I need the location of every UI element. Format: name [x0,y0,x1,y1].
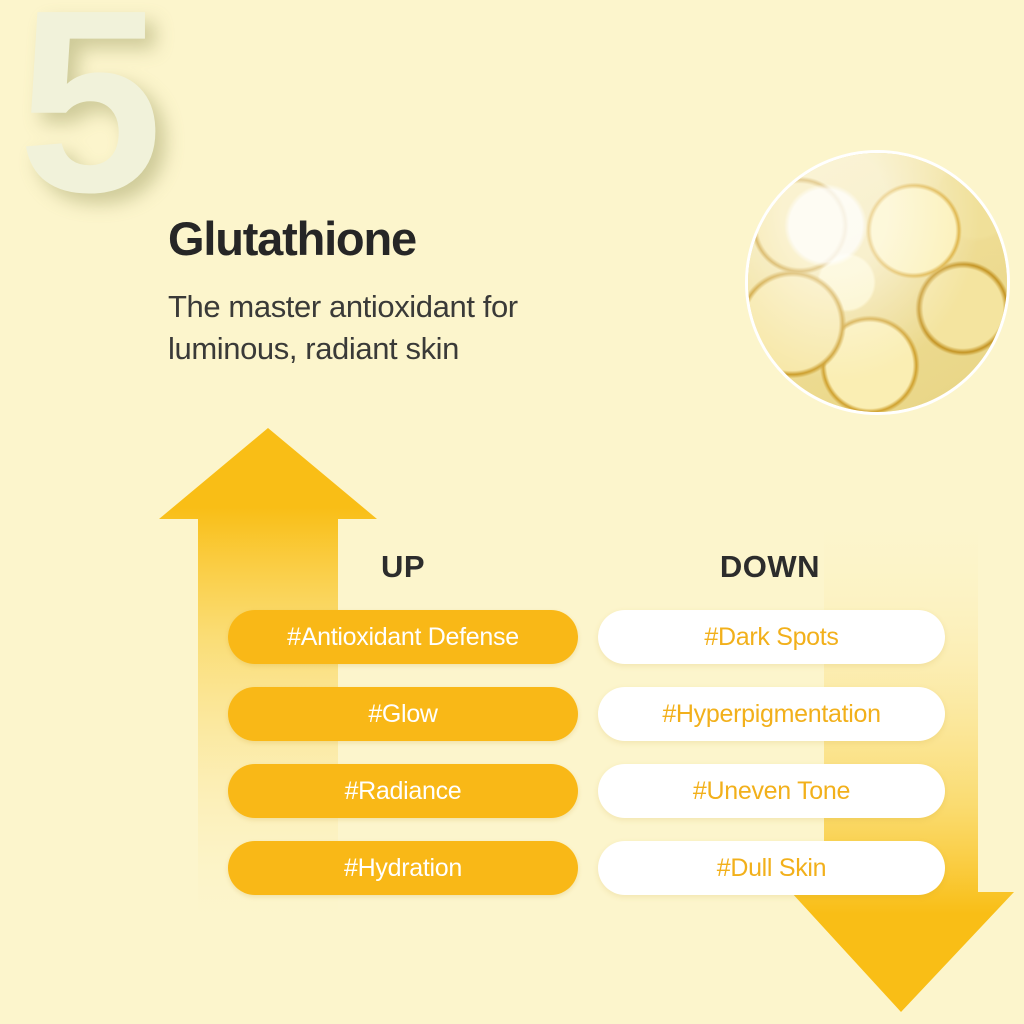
subtitle-line-1: The master antioxidant for [168,286,688,328]
pill-label: #Dark Spots [704,623,838,652]
concerns-down-list: #Dark Spots #Hyperpigmentation #Uneven T… [598,610,945,895]
step-number: 5 [18,0,157,232]
list-item[interactable]: #Radiance [228,764,578,818]
list-item[interactable]: #Uneven Tone [598,764,945,818]
pill-label: #Antioxidant Defense [287,623,519,652]
benefits-up-list: #Antioxidant Defense #Glow #Radiance #Hy… [228,610,578,895]
pill-label: #Glow [368,700,437,729]
list-item[interactable]: #Antioxidant Defense [228,610,578,664]
pill-label: #Uneven Tone [693,777,850,806]
subtitle-line-2: luminous, radiant skin [168,328,688,370]
column-heading-down: DOWN [670,549,870,585]
list-item[interactable]: #Hydration [228,841,578,895]
list-item[interactable]: #Dull Skin [598,841,945,895]
photo-gloss-overlay [748,153,1007,412]
list-item[interactable]: #Dark Spots [598,610,945,664]
pill-label: #Hydration [344,854,462,883]
list-item[interactable]: #Hyperpigmentation [598,687,945,741]
capsule-photo-circle [745,150,1010,415]
pill-label: #Radiance [345,777,462,806]
infographic-canvas: 5 Glutathione The master antioxidant for… [0,0,1024,1024]
pill-label: #Hyperpigmentation [662,700,880,729]
list-item[interactable]: #Glow [228,687,578,741]
page-title: Glutathione [168,214,416,263]
pill-label: #Dull Skin [717,854,827,883]
page-subtitle: The master antioxidant for luminous, rad… [168,286,688,369]
column-heading-up: UP [303,549,503,585]
